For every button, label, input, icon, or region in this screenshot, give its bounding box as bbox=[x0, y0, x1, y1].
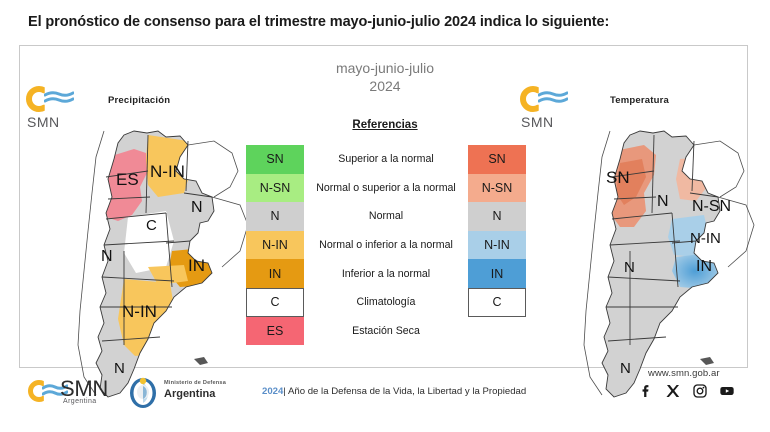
ministry-line2: Argentina bbox=[164, 388, 215, 400]
legend-description: Normal bbox=[304, 202, 468, 231]
precip-fill-regions bbox=[62, 101, 258, 401]
period-header: mayo-junio-julio 2024 bbox=[275, 59, 495, 95]
map-temperature: SNNN-SNN-ININNN bbox=[568, 101, 764, 401]
legend-swatch-temp-n-sn: N-SN bbox=[468, 174, 526, 203]
ministry-logo: Ministerio de Defensa Argentina bbox=[128, 377, 248, 409]
legend-description: Superior a la normal bbox=[304, 145, 468, 174]
legend-row: SNSuperior a la normalSN bbox=[246, 145, 526, 174]
legend-swatch-precip-es: ES bbox=[246, 317, 304, 346]
map-region-label: IN bbox=[188, 256, 205, 275]
legend-swatch-temp-n: N bbox=[468, 202, 526, 231]
footer-smn-sub: Argentina bbox=[63, 398, 97, 405]
argentina-shield-icon bbox=[128, 377, 162, 409]
period-year: 2024 bbox=[275, 77, 495, 95]
smn-logo-text: SMN bbox=[27, 114, 60, 130]
legend-swatch-precip-n-in: N-IN bbox=[246, 231, 304, 260]
instagram-icon[interactable] bbox=[692, 383, 708, 399]
footer-slogan: 2024| Año de la Defensa de la Vida, la L… bbox=[262, 386, 526, 397]
temp-fill-regions bbox=[568, 129, 764, 401]
footer-smn-logo: SMN Argentina bbox=[28, 378, 128, 408]
slogan-year: 2024 bbox=[262, 386, 283, 397]
x-icon[interactable] bbox=[665, 383, 681, 399]
map-region-label: ES bbox=[116, 170, 139, 189]
map-region-label: N bbox=[191, 199, 203, 216]
map-region-label: N-SN bbox=[692, 198, 731, 215]
youtube-icon[interactable] bbox=[719, 383, 735, 399]
legend-description: Climatología bbox=[304, 288, 468, 317]
website-url[interactable]: www.smn.gob.ar bbox=[648, 368, 720, 379]
map-region-label: IN bbox=[696, 258, 712, 275]
smn-logo-mark: SMN Argentina bbox=[28, 378, 128, 408]
legend-description: Normal o superior a la normal bbox=[304, 174, 468, 203]
map-region-label: N bbox=[101, 248, 113, 265]
legend-row: NNormalN bbox=[246, 202, 526, 231]
islands-shape bbox=[194, 357, 208, 365]
legend-description: Inferior a la normal bbox=[304, 259, 468, 288]
legend-row: N-INNormal o inferior a la normalN-IN bbox=[246, 231, 526, 260]
map-region-label: SN bbox=[606, 168, 630, 187]
page-title: El pronóstico de consenso para el trimes… bbox=[28, 14, 728, 30]
legend-table: SNSuperior a la normalSNN-SNNormal o sup… bbox=[246, 145, 526, 345]
legend-row: INInferior a la normalIN bbox=[246, 259, 526, 288]
legend-swatch-temp-sn: SN bbox=[468, 145, 526, 174]
legend-swatch-precip-sn: SN bbox=[246, 145, 304, 174]
map-region-label: N bbox=[657, 193, 669, 210]
legend-swatch-temp-n-in: N-IN bbox=[468, 231, 526, 260]
social-links bbox=[638, 383, 735, 399]
legend-swatch-temp-c: C bbox=[468, 288, 526, 317]
map-region-label: N-IN bbox=[150, 162, 185, 181]
period-months: mayo-junio-julio bbox=[275, 59, 495, 77]
references-heading: Referencias bbox=[275, 119, 495, 131]
map-region-label: N-IN bbox=[690, 230, 721, 247]
slogan-text: Año de la Defensa de la Vida, la Liberta… bbox=[288, 386, 526, 397]
legend-description: Normal o inferior a la normal bbox=[304, 231, 468, 260]
islands-shape bbox=[700, 357, 714, 365]
smn-logo-mark bbox=[520, 86, 570, 116]
legend-swatch-precip-in: IN bbox=[246, 259, 304, 288]
slogan-separator: | bbox=[283, 386, 286, 397]
legend-row: ESEstación Seca bbox=[246, 317, 526, 346]
legend-description: Estación Seca bbox=[304, 317, 468, 346]
map-region-label: N-IN bbox=[122, 302, 157, 321]
ministry-line1: Ministerio de Defensa bbox=[164, 380, 226, 386]
legend-swatch-precip-c: C bbox=[246, 288, 304, 317]
forecast-infographic: El pronóstico de consenso para el trimes… bbox=[0, 0, 770, 432]
infographic-panel: mayo-junio-julio 2024 Precipitación Temp… bbox=[19, 45, 748, 368]
smn-logo-text: SMN bbox=[521, 114, 554, 130]
legend-swatch-temp-none bbox=[468, 317, 526, 346]
map-region-label: N bbox=[624, 259, 635, 276]
facebook-icon[interactable] bbox=[638, 383, 654, 399]
legend-swatch-precip-n-sn: N-SN bbox=[246, 174, 304, 203]
legend-swatch-precip-n: N bbox=[246, 202, 304, 231]
map-precipitation: ESN-INNCNINN-INN bbox=[62, 101, 258, 401]
legend-swatch-temp-in: IN bbox=[468, 259, 526, 288]
legend-row: CClimatologíaC bbox=[246, 288, 526, 317]
legend-row: N-SNNormal o superior a la normalN-SN bbox=[246, 174, 526, 203]
smn-waves-icon bbox=[538, 91, 568, 108]
map-region-label: C bbox=[146, 217, 157, 234]
